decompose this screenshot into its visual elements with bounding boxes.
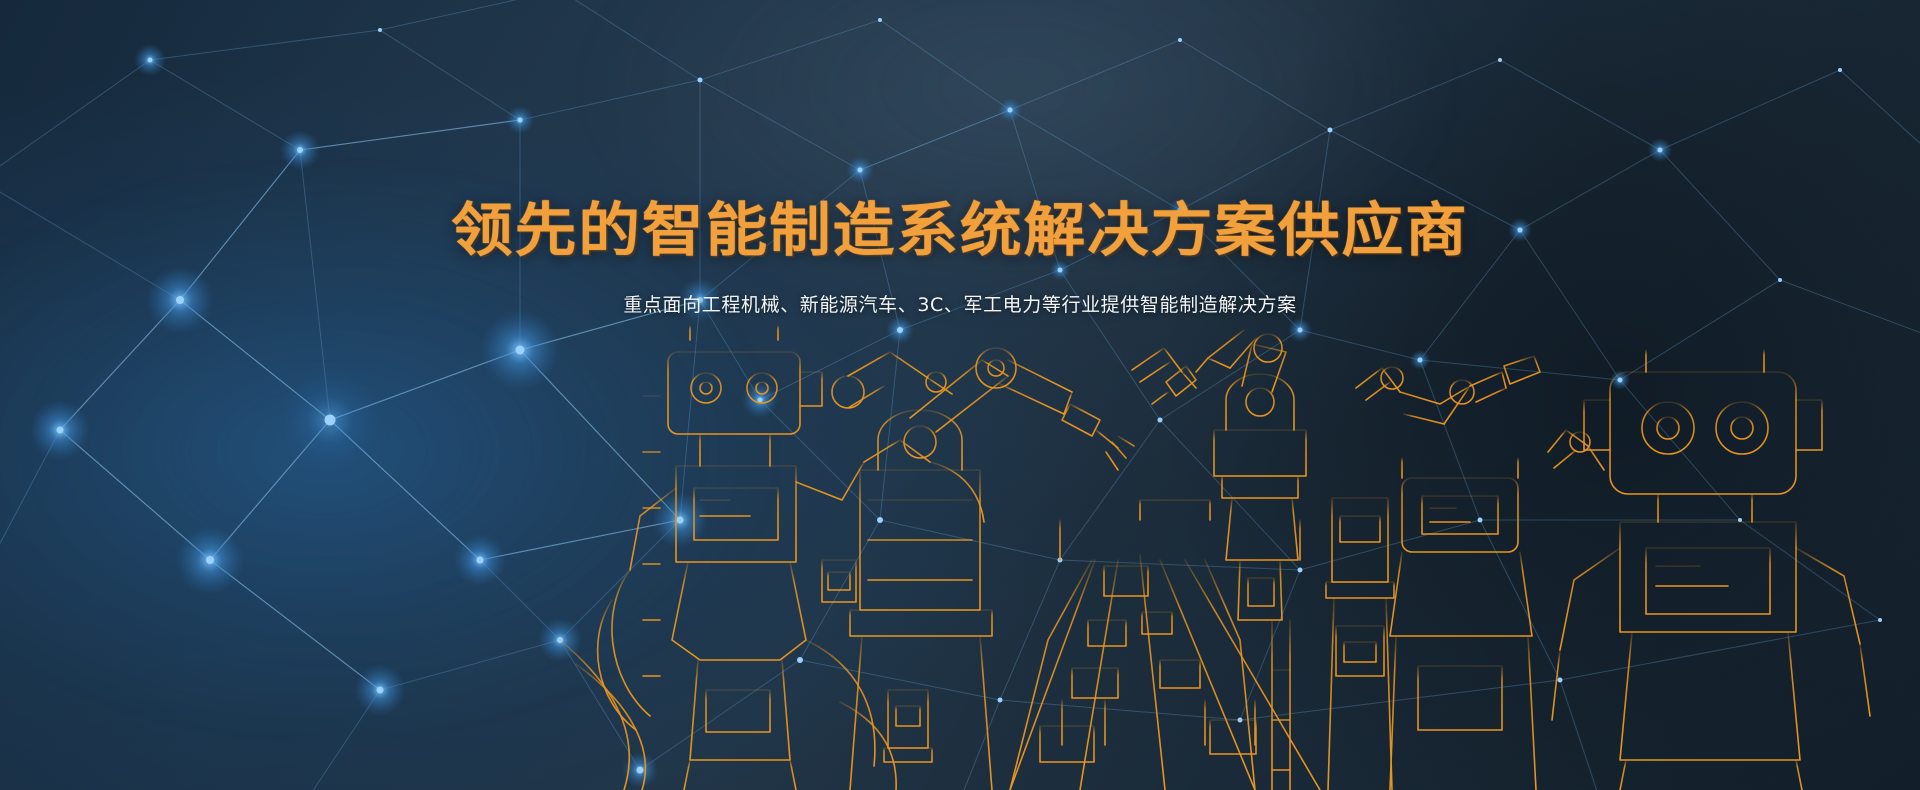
floor-lines — [620, 768, 1920, 786]
machine-cabinets — [822, 498, 1394, 790]
robot-humanoid-left — [598, 326, 930, 790]
robot-humanoid-right — [1390, 458, 1536, 790]
illustration-linework — [560, 326, 1920, 790]
hero-copy: 领先的智能制造系统解决方案供应商 重点面向工程机械、新能源汽车、3C、军工电力等… — [0, 198, 1920, 319]
hero-subheadline: 重点面向工程机械、新能源汽车、3C、军工电力等行业提供智能制造解决方案 — [0, 291, 1920, 320]
cable-hoses — [560, 462, 984, 790]
robot-arm-right-b — [1356, 356, 1540, 424]
conveyor-line — [945, 470, 1425, 790]
industrial-robot-illustration — [0, 0, 1920, 790]
hero-banner: 领先的智能制造系统解决方案供应商 重点面向工程机械、新能源汽车、3C、军工电力等… — [0, 0, 1920, 790]
support-post-right — [1272, 620, 1290, 790]
robot-arm-small-right-center — [1132, 348, 1196, 388]
hero-headline: 领先的智能制造系统解决方案供应商 — [0, 198, 1920, 263]
robot-head-far-right — [1552, 350, 1870, 790]
